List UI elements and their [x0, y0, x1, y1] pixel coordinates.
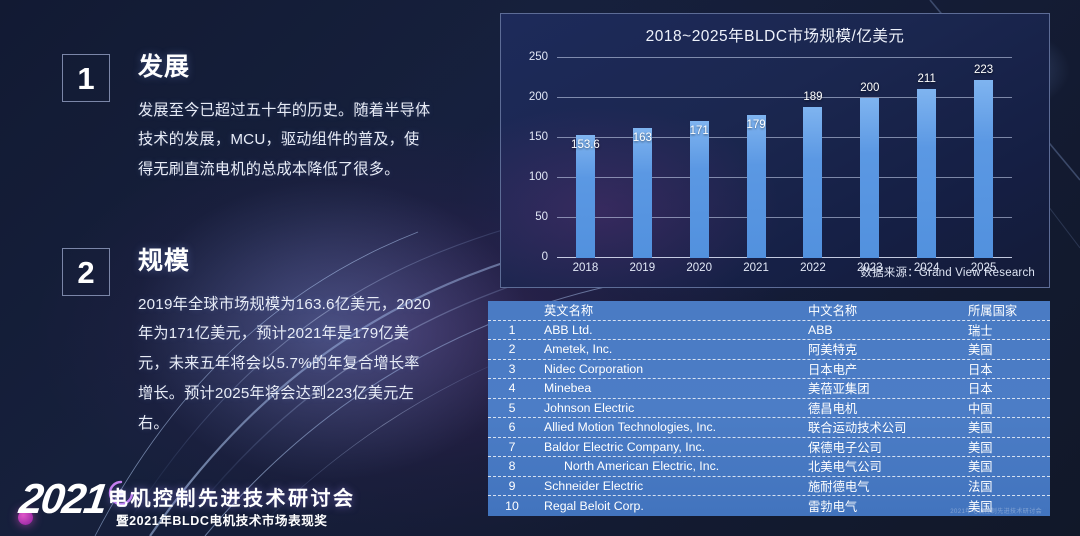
- chart-bar: 153.6: [576, 135, 595, 258]
- table-row[interactable]: 1ABB Ltd.ABB瑞士: [488, 321, 1050, 341]
- section-number-badge-2: 2: [62, 248, 110, 296]
- chart-title: 2018~2025年BLDC市场规模/亿美元: [501, 24, 1049, 46]
- section-number-badge-1: 1: [62, 54, 110, 102]
- table-cell-index: 9: [488, 479, 536, 493]
- table-cell-country: 美国: [968, 340, 1050, 358]
- company-table: 英文名称中文名称所属国家1ABB Ltd.ABB瑞士2Ametek, Inc.阿…: [488, 301, 1050, 516]
- table-body: 英文名称中文名称所属国家1ABB Ltd.ABB瑞士2Ametek, Inc.阿…: [488, 301, 1050, 516]
- table-cell-index: 5: [488, 401, 536, 415]
- section-paragraph-2: 2019年全球市场规模为163.6亿美元，2020年为171亿美元，预计2021…: [138, 290, 434, 439]
- event-logo: 2021 电机控制先进技术研讨会 暨2021年BLDC电机技术市场表现奖: [12, 470, 352, 532]
- chart-bars: 153.6163171179189200211223: [557, 58, 1012, 258]
- logo-main-title: 电机控制先进技术研讨会: [108, 482, 356, 511]
- table-cell-chinese-name: ABB: [808, 323, 968, 337]
- slide-root: 1 发展 发展至今已超过五十年的历史。随着半导体技术的发展，MCU，驱动组件的普…: [0, 0, 1080, 536]
- table-cell-english-name: Johnson Electric: [536, 401, 808, 415]
- table-cell-country: 日本: [968, 360, 1050, 378]
- table-cell-english-name: Nidec Corporation: [536, 362, 808, 376]
- table-cell-country: 瑞士: [968, 321, 1050, 339]
- table-cell-index: 3: [488, 362, 536, 376]
- table-column-header: 所属国家: [968, 301, 1050, 319]
- table-cell-english-name: Minebea: [536, 381, 808, 395]
- section-block-2: 2 规模 2019年全球市场规模为163.6亿美元，2020年为171亿美元，预…: [62, 248, 434, 438]
- table-cell-chinese-name: 联合运动技术公司: [808, 418, 968, 436]
- chart-bar-slot: 179: [728, 58, 785, 258]
- chart-bar-slot: 163: [614, 58, 671, 258]
- chart-bar-value-label: 153.6: [571, 139, 600, 151]
- table-cell-country: 法国: [968, 477, 1050, 495]
- chart-bar-value-label: 189: [803, 91, 822, 103]
- logo-year: 2021: [17, 478, 108, 520]
- table-cell-chinese-name: 北美电气公司: [808, 457, 968, 475]
- table-cell-english-name: Allied Motion Technologies, Inc.: [536, 420, 808, 434]
- chart-y-tick-label: 200: [529, 91, 548, 103]
- table-cell-chinese-name: 阿美特克: [808, 340, 968, 358]
- table-cell-english-name: Ametek, Inc.: [536, 342, 808, 356]
- table-cell-country: 中国: [968, 399, 1050, 417]
- table-cell-english-name: Schneider Electric: [536, 479, 808, 493]
- table-cell-english-name: ABB Ltd.: [536, 323, 808, 337]
- chart-bar-slot: 189: [785, 58, 842, 258]
- section-body-2: 规模 2019年全球市场规模为163.6亿美元，2020年为171亿美元，预计2…: [138, 248, 434, 438]
- chart-bar-slot: 211: [898, 58, 955, 258]
- table-header-row: 英文名称中文名称所属国家: [488, 301, 1050, 321]
- chart-bar: 211: [917, 89, 936, 258]
- table-cell-index: 10: [488, 499, 536, 513]
- table-cell-chinese-name: 保德电子公司: [808, 438, 968, 456]
- table-cell-chinese-name: 雷勃电气: [808, 497, 968, 515]
- table-row[interactable]: 2Ametek, Inc.阿美特克美国: [488, 340, 1050, 360]
- table-cell-index: 2: [488, 342, 536, 356]
- table-cell-chinese-name: 日本电产: [808, 360, 968, 378]
- table-cell-chinese-name: 施耐德电气: [808, 477, 968, 495]
- table-row[interactable]: 4Minebea美蓓亚集团日本: [488, 379, 1050, 399]
- chart-x-tick-label: 2020: [671, 262, 728, 274]
- table-row[interactable]: 3Nidec Corporation日本电产日本: [488, 360, 1050, 380]
- chart-x-tick-label: 2021: [728, 262, 785, 274]
- table-cell-chinese-name: 美蓓亚集团: [808, 379, 968, 397]
- section-title-2: 规模: [138, 248, 434, 276]
- table-row[interactable]: 6Allied Motion Technologies, Inc.联合运动技术公…: [488, 418, 1050, 438]
- section-paragraph-1: 发展至今已超过五十年的历史。随着半导体技术的发展，MCU，驱动组件的普及，使得无…: [138, 96, 434, 185]
- chart-bar-slot: 153.6: [557, 58, 614, 258]
- chart-y-tick-label: 50: [535, 211, 548, 223]
- table-cell-country: 美国: [968, 457, 1050, 475]
- section-body-1: 发展 发展至今已超过五十年的历史。随着半导体技术的发展，MCU，驱动组件的普及，…: [138, 54, 434, 185]
- table-column-header: 英文名称: [536, 301, 808, 319]
- chart-bar: 223: [974, 80, 993, 258]
- chart-bar-slot: 200: [841, 58, 898, 258]
- chart-bar-value-label: 200: [860, 82, 879, 94]
- chart-bar: 189: [803, 107, 822, 258]
- table-cell-chinese-name: 德昌电机: [808, 399, 968, 417]
- table-row[interactable]: 5Johnson Electric德昌电机中国: [488, 399, 1050, 419]
- chart-bar-value-label: 163: [633, 132, 652, 144]
- chart-panel: 2018~2025年BLDC市场规模/亿美元 050100150200250 1…: [500, 13, 1050, 288]
- chart-y-tick-label: 0: [542, 251, 548, 263]
- chart-source-note: 数据来源：Grand View Research: [860, 264, 1035, 280]
- chart-bar: 171: [690, 121, 709, 258]
- table-cell-index: 6: [488, 420, 536, 434]
- chart-bar-value-label: 179: [746, 119, 765, 131]
- left-content-column: 1 发展 发展至今已超过五十年的历史。随着半导体技术的发展，MCU，驱动组件的普…: [0, 0, 480, 536]
- chart-bar-value-label: 211: [918, 73, 936, 85]
- table-column-header: 中文名称: [808, 301, 968, 319]
- chart-bar: 200: [860, 98, 879, 258]
- chart-bar-slot: 223: [955, 58, 1012, 258]
- chart-bar-value-label: 171: [690, 125, 709, 137]
- table-cell-country: 日本: [968, 379, 1050, 397]
- chart-x-tick-label: 2018: [557, 262, 614, 274]
- chart-bar: 179: [747, 115, 766, 258]
- table-row[interactable]: 9Schneider Electric施耐德电气法国: [488, 477, 1050, 497]
- chart-x-tick-label: 2022: [785, 262, 842, 274]
- table-cell-index: 7: [488, 440, 536, 454]
- chart-y-tick-label: 250: [529, 51, 548, 63]
- chart-bar-slot: 171: [671, 58, 728, 258]
- chart-plot-area: 050100150200250 153.61631711791892002112…: [557, 58, 1012, 258]
- logo-sub-title: 暨2021年BLDC电机技术市场表现奖: [116, 510, 327, 529]
- table-row[interactable]: 8North American Electric, Inc.北美电气公司美国: [488, 457, 1050, 477]
- chart-y-tick-label: 100: [529, 171, 548, 183]
- table-cell-index: 4: [488, 381, 536, 395]
- chart-bar: 163: [633, 128, 652, 258]
- chart-y-tick-label: 150: [529, 131, 548, 143]
- table-cell-country: 美国: [968, 418, 1050, 436]
- chart-bar-value-label: 223: [974, 64, 993, 76]
- table-cell-index: 1: [488, 323, 536, 337]
- table-cell-english-name: North American Electric, Inc.: [536, 459, 808, 473]
- table-cell-english-name: Regal Beloit Corp.: [536, 499, 808, 513]
- section-title-1: 发展: [138, 54, 434, 82]
- table-cell-english-name: Baldor Electric Company, Inc.: [536, 440, 808, 454]
- section-block-1: 1 发展 发展至今已超过五十年的历史。随着半导体技术的发展，MCU，驱动组件的普…: [62, 54, 434, 185]
- table-cell-index: 8: [488, 459, 536, 473]
- chart-x-tick-label: 2019: [614, 262, 671, 274]
- table-row[interactable]: 7Baldor Electric Company, Inc.保德电子公司美国: [488, 438, 1050, 458]
- table-cell-country: 美国: [968, 438, 1050, 456]
- table-watermark: 2021年电机控制先进技术研讨会: [950, 506, 1042, 515]
